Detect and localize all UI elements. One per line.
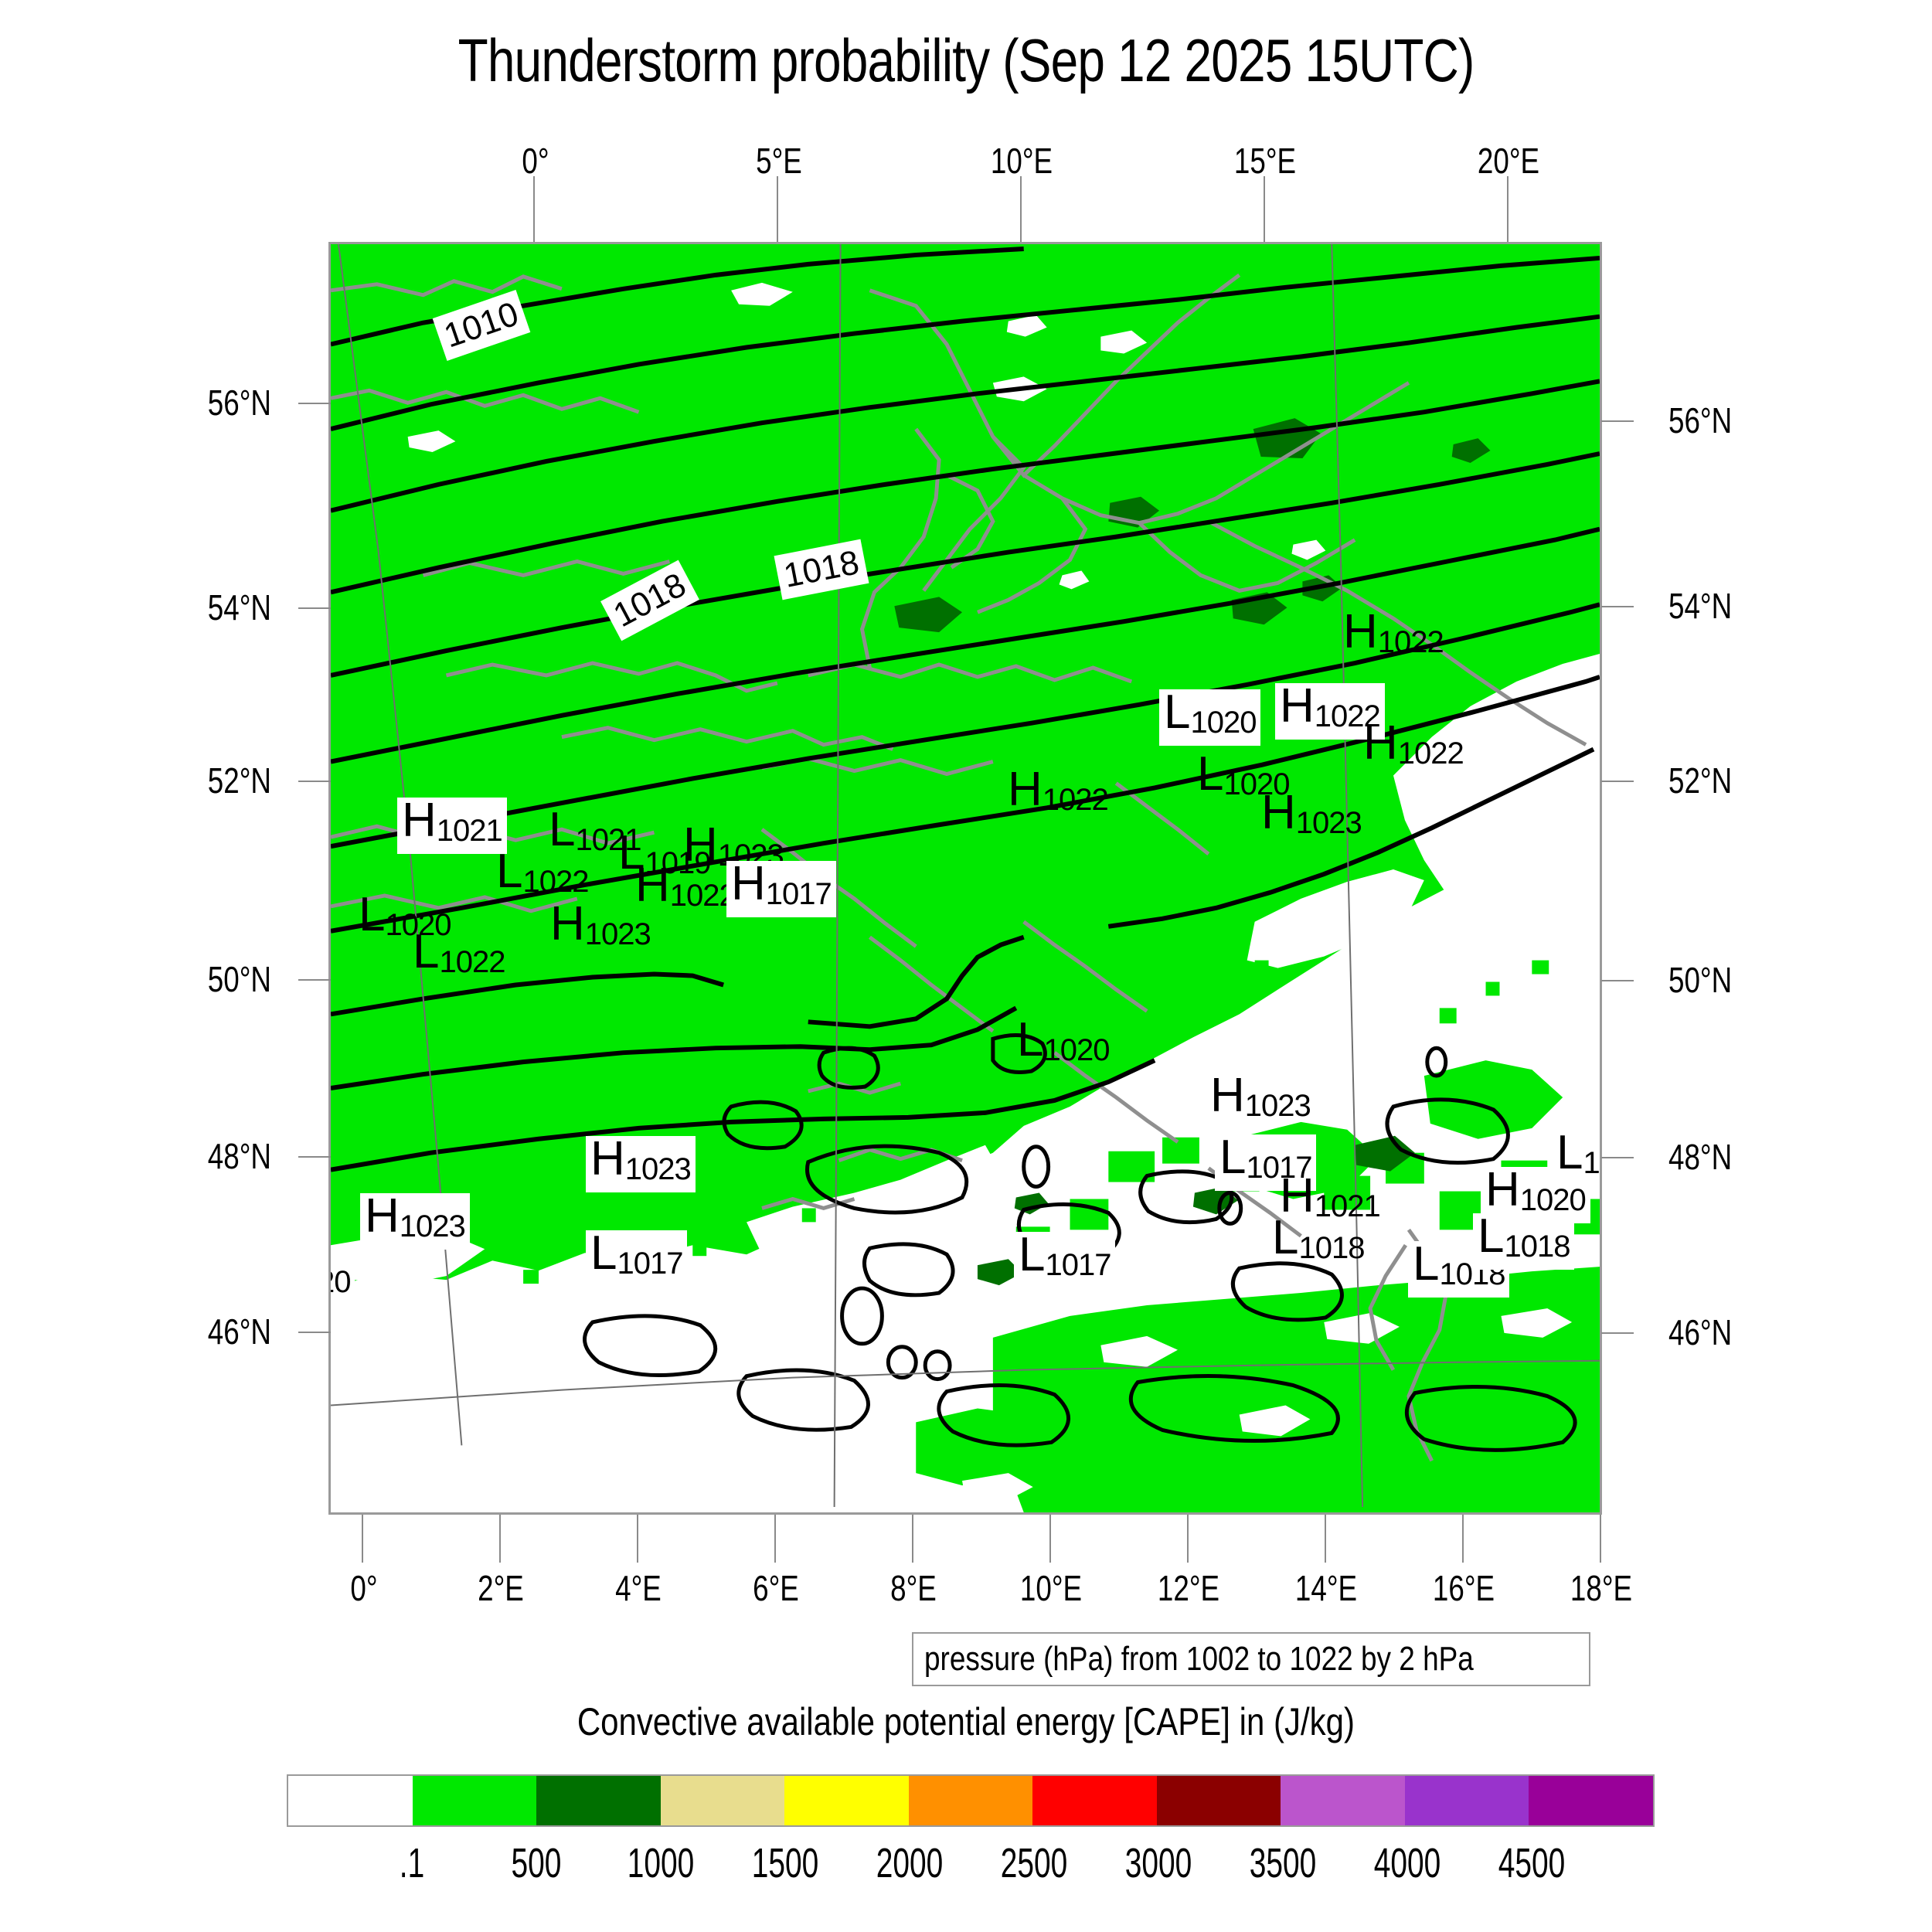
tickmark-top-0 (533, 176, 535, 242)
pressure-center-type: L (1197, 747, 1223, 801)
pressure-contour-note: pressure (hPa) from 1002 to 1022 by 2 hP… (912, 1632, 1590, 1686)
page-title: Thunderstorm probability (Sep 12 2025 15… (174, 23, 1758, 97)
pressure-center-h-1022-a: H1022 (1338, 609, 1448, 665)
axis-label-bottom-16e: 16°E (1418, 1570, 1509, 1606)
map-canvas[interactable]: 1010 1018 1018 H1022 L1020 H1022 H1022 L… (328, 242, 1602, 1515)
colorbar-swatch-9 (1405, 1776, 1529, 1825)
pressure-contour-note-text: pressure (hPa) from 1002 to 1022 by 2 hP… (924, 1638, 1474, 1680)
tickmark-bottom-10e (1049, 1515, 1051, 1563)
pressure-center-type: L (1478, 1209, 1504, 1263)
axis-label-right-46n: 46°N (1668, 1315, 1786, 1350)
axis-label-top-15e: 15°E (1219, 143, 1311, 179)
axis-label-bottom-12e: 12°E (1143, 1570, 1234, 1606)
colorbar-label-0: .1 (367, 1839, 456, 1887)
colorbar-label-1000: 1000 (616, 1839, 705, 1887)
axis-label-bottom-18e: 18°E (1556, 1570, 1647, 1606)
axis-label-right-52n: 52°N (1668, 763, 1786, 798)
tickmark-bottom-2e (499, 1515, 501, 1563)
pressure-center-type: L (496, 845, 522, 898)
pressure-center-type: L (1556, 1126, 1583, 1179)
tickmark-right-52n (1601, 781, 1634, 782)
axis-label-bottom-2e: 2°E (464, 1570, 538, 1606)
pressure-center-type: H (1363, 716, 1398, 770)
pressure-center-l-1018-c: L1018 (1473, 1213, 1574, 1270)
axis-label-bottom-6e: 6°E (739, 1570, 813, 1606)
pressure-center-value: 1023 (1245, 1089, 1311, 1123)
pressure-center-value: 1022 (1043, 783, 1108, 817)
pressure-center-h-1021-a: H1021 (397, 798, 507, 854)
colorbar-label-3000: 3000 (1114, 1839, 1202, 1887)
axis-label-bottom-14e: 14°E (1281, 1570, 1372, 1606)
pressure-center-l-1020-d: L1020 (1012, 1017, 1114, 1073)
pressure-center-value: 1021 (437, 814, 502, 848)
axis-label-top-5e: 5°E (742, 143, 816, 179)
pressure-center-value: 1020 (1520, 1183, 1586, 1217)
axis-label-top-20e: 20°E (1463, 143, 1554, 179)
colorbar-swatch-7 (1157, 1776, 1281, 1825)
pressure-center-value: 1022 (1378, 625, 1444, 659)
tickmark-top-15e (1264, 176, 1265, 242)
colorbar-swatch-8 (1281, 1776, 1405, 1825)
pressure-center-l-1018-a: L1018 (1267, 1215, 1369, 1271)
pressure-center-value: 1018 (1504, 1230, 1570, 1264)
pressure-center-type: L (1219, 1131, 1246, 1184)
tickmark-bottom-8e (912, 1515, 913, 1563)
colorbar-label-500: 500 (492, 1839, 580, 1887)
pressure-center-type: H (1261, 786, 1296, 839)
tickmark-left-46n (298, 1332, 331, 1333)
pressure-center-type: H (731, 857, 766, 910)
pressure-center-l-1017-c: L1017 (586, 1230, 687, 1287)
pressure-center-type: L (1272, 1211, 1298, 1264)
pressure-center-l-1020-a: L1020 (1159, 689, 1260, 746)
axis-label-top-0: 0° (508, 143, 563, 179)
axis-label-right-56n: 56°N (1668, 403, 1786, 438)
colorbar-label-2000: 2000 (865, 1839, 954, 1887)
tickmark-left-48n (298, 1156, 331, 1158)
axis-label-left-56n: 56°N (154, 385, 271, 420)
pressure-center-h-1023-c: H1023 (546, 901, 655, 957)
axis-label-bottom-10e: 10°E (1005, 1570, 1097, 1606)
tickmark-bottom-12e (1187, 1515, 1189, 1563)
axis-label-bottom-0: 0° (336, 1570, 392, 1606)
tickmark-right-50n (1601, 980, 1634, 981)
pressure-center-type: L (1164, 685, 1190, 739)
colorbar-label-3500: 3500 (1238, 1839, 1327, 1887)
axis-label-top-10e: 10°E (976, 143, 1067, 179)
pressure-center-l-10-clipped: L10 (1552, 1130, 1600, 1186)
tickmark-right-54n (1601, 606, 1634, 607)
tickmark-bottom-14e (1325, 1515, 1326, 1563)
pressure-center-value: 1023 (625, 1152, 691, 1186)
axis-label-left-54n: 54°N (154, 590, 271, 625)
pressure-center-h-1017: H1017 (726, 861, 836, 917)
pressure-center-type: H (590, 1132, 625, 1185)
pressure-center-value: 1023 (400, 1209, 465, 1243)
tickmark-left-50n (298, 979, 331, 981)
pressure-center-type: H (1485, 1163, 1520, 1216)
colorbar-swatch-6 (1032, 1776, 1157, 1825)
pressure-center-type: H (1280, 679, 1315, 733)
colorbar-swatch-10 (1529, 1776, 1653, 1825)
axis-label-left-50n: 50°N (154, 961, 271, 997)
axis-label-left-52n: 52°N (154, 763, 271, 798)
pressure-center-value: 1018 (1298, 1231, 1364, 1265)
axis-label-right-48n: 48°N (1668, 1139, 1786, 1175)
pressure-center-type: L (1017, 1013, 1043, 1066)
pressure-center-h-1023-f: H1023 (360, 1193, 470, 1250)
tickmark-top-5e (777, 176, 778, 242)
pressure-center-l-1017-b: L1017 (1014, 1232, 1115, 1288)
pressure-center-value: 1017 (1045, 1248, 1111, 1282)
pressure-center-type: H (1343, 605, 1378, 658)
pressure-center-h-1022-d: H1022 (1003, 767, 1113, 823)
pressure-center-type: H (402, 794, 437, 847)
tickmark-right-46n (1601, 1332, 1634, 1334)
pressure-center-type: L (1019, 1228, 1045, 1281)
pressure-center-value: 1020 (1043, 1033, 1109, 1067)
axis-label-left-48n: 48°N (154, 1138, 271, 1174)
pressure-center-type: L (1413, 1237, 1439, 1291)
pressure-center-h-1023-a: H1023 (1257, 790, 1366, 846)
tickmark-top-10e (1020, 176, 1022, 242)
colorbar-label-4500: 4500 (1487, 1839, 1576, 1887)
pressure-center-value: 1022 (522, 865, 588, 899)
colorbar-swatch-4 (784, 1776, 909, 1825)
pressure-center-value: 1020 (1190, 706, 1256, 740)
axis-label-left-46n: 46°N (154, 1314, 271, 1349)
axis-label-bottom-8e: 8°E (876, 1570, 951, 1606)
pressure-center-value: 1022 (1398, 736, 1464, 770)
pressure-center-h-1022-c: H1022 (1359, 720, 1468, 777)
pressure-center-type: H (1210, 1069, 1245, 1122)
pressure-center-value: 1017 (617, 1247, 682, 1281)
tickmark-bottom-4e (637, 1515, 638, 1563)
pressure-center-value: 1020 (331, 1265, 350, 1299)
pressure-center-value: 1023 (585, 917, 651, 951)
colorbar-swatch-5 (909, 1776, 1033, 1825)
pressure-center-type: L (590, 1226, 617, 1280)
pressure-center-l-1020-e: L1020 (331, 1249, 355, 1305)
colorbar-label-4000: 4000 (1362, 1839, 1451, 1887)
pressure-center-value: 1022 (439, 945, 505, 979)
colorbar-label-2500: 2500 (989, 1839, 1078, 1887)
tickmark-right-48n (1601, 1157, 1634, 1158)
pressure-center-l-1022-d: L1022 (408, 929, 509, 985)
tickmark-right-56n (1601, 420, 1634, 422)
pressure-center-h-1023-d: H1023 (1206, 1073, 1315, 1129)
axis-label-bottom-4e: 4°E (601, 1570, 675, 1606)
pressure-center-type: H (365, 1189, 400, 1243)
colorbar-title-text: Convective available potential energy [C… (577, 1699, 1355, 1745)
colorbar-swatch-0 (288, 1776, 413, 1825)
tickmark-bottom-0 (362, 1515, 363, 1563)
pressure-center-type: H (550, 897, 585, 951)
tickmark-left-54n (298, 607, 331, 609)
tickmark-bottom-16e (1462, 1515, 1464, 1563)
colorbar-swatch-1 (413, 1776, 537, 1825)
axis-label-right-50n: 50°N (1668, 962, 1786, 998)
colorbar-title: Convective available potential energy [C… (0, 1699, 1932, 1745)
pressure-center-type: L (359, 888, 385, 941)
tickmark-bottom-6e (774, 1515, 776, 1563)
pressure-center-type: H (1008, 763, 1043, 816)
axis-label-right-54n: 54°N (1668, 588, 1786, 624)
colorbar-swatch-3 (661, 1776, 785, 1825)
pressure-center-value: 1023 (1296, 806, 1362, 840)
colorbar[interactable] (287, 1774, 1655, 1827)
tickmark-bottom-18e (1600, 1515, 1601, 1563)
colorbar-swatch-2 (536, 1776, 661, 1825)
colorbar-label-1500: 1500 (740, 1839, 829, 1887)
pressure-center-value: 10 (1583, 1146, 1600, 1180)
tickmark-left-52n (298, 781, 331, 782)
tickmark-top-20e (1507, 176, 1509, 242)
pressure-center-h-1023-e: H1023 (586, 1136, 696, 1192)
pressure-center-value: 1017 (766, 877, 832, 911)
tickmark-left-56n (298, 403, 331, 404)
colorbar-tick-labels: .1 500 1000 1500 2000 2500 3000 3500 400… (287, 1839, 1655, 1893)
pressure-center-type: L (413, 925, 439, 978)
